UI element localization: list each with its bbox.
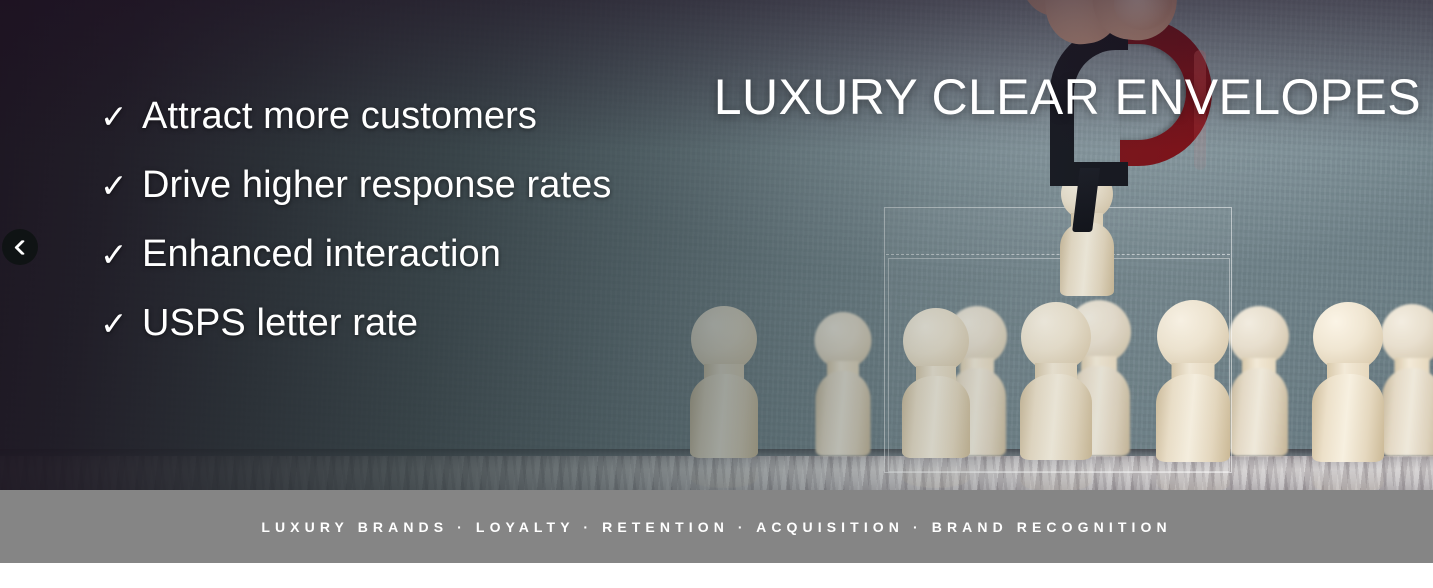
carousel-prev-button[interactable] (2, 229, 38, 265)
check-icon: ✓ (100, 220, 142, 289)
check-icon: ✓ (100, 289, 142, 358)
list-item: ✓ USPS letter rate (100, 289, 740, 358)
benefit-list: ✓ Attract more customers ✓ Drive higher … (100, 82, 740, 358)
page-title: LUXURY CLEAR ENVELOPES (714, 68, 1421, 126)
keywords-strap: LUXURY BRANDS · LOYALTY · RETENTION · AC… (0, 490, 1433, 563)
keywords-text: LUXURY BRANDS · LOYALTY · RETENTION · AC… (261, 519, 1171, 535)
list-item: ✓ Drive higher response rates (100, 151, 740, 220)
list-item-label: Drive higher response rates (142, 151, 611, 220)
list-item-label: USPS letter rate (142, 289, 418, 358)
list-item-label: Enhanced interaction (142, 220, 501, 289)
chevron-left-icon (14, 240, 27, 255)
list-item: ✓ Enhanced interaction (100, 220, 740, 289)
hero-banner: LUXURY CLEAR ENVELOPES ✓ Attract more cu… (0, 0, 1433, 588)
check-icon: ✓ (100, 82, 142, 151)
list-item-label: Attract more customers (142, 82, 537, 151)
list-item: ✓ Attract more customers (100, 82, 740, 151)
check-icon: ✓ (100, 151, 142, 220)
page-footer-space (0, 563, 1433, 588)
